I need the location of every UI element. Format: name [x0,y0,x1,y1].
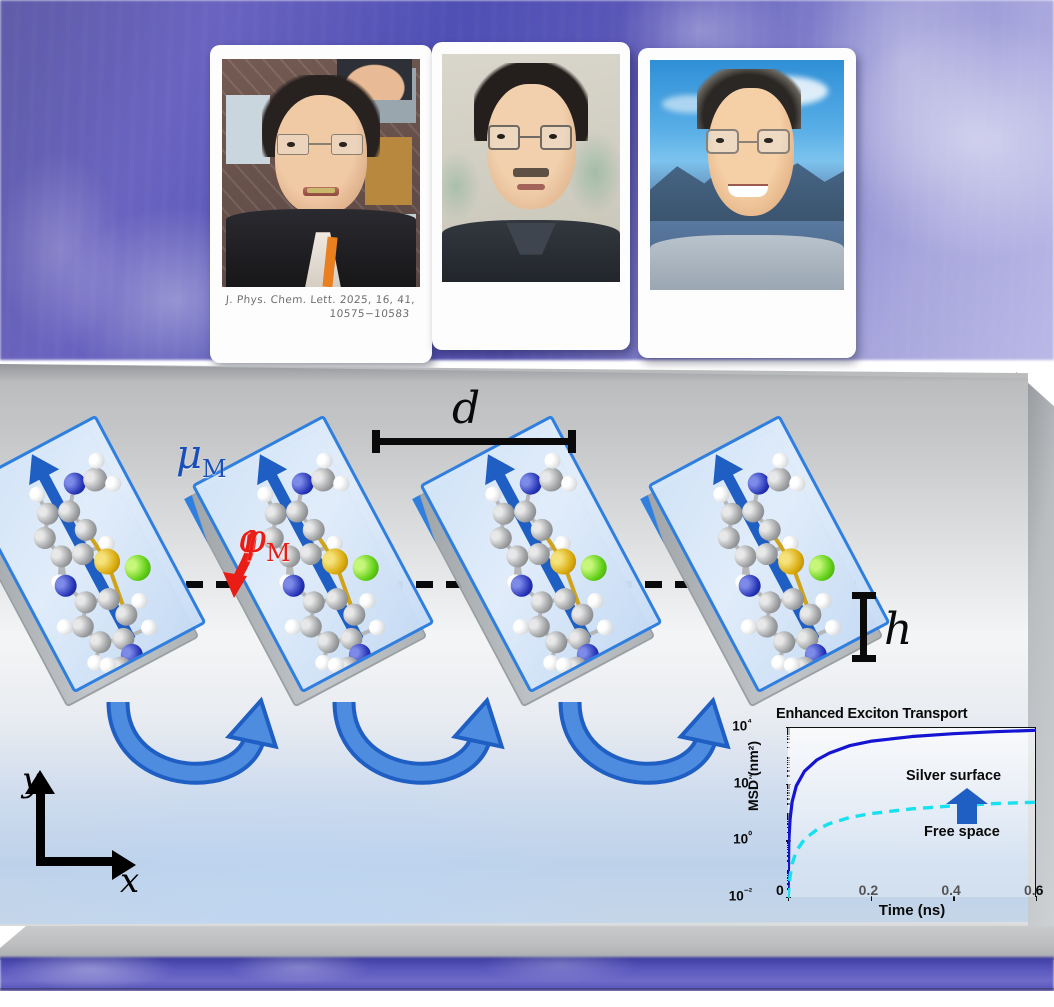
axis-y-label: y [22,760,41,800]
chart-y-tick-label-0: 10⁻² [708,887,752,904]
card-author-2-photo [442,54,620,282]
card-author-3[interactable] [638,48,856,358]
angle-label-symbol: φ [238,516,266,562]
chart-annotation-free-space: Free space [924,824,1000,840]
exciton-hop-arrow-1 [104,694,294,804]
chart-plot-area [788,727,1036,897]
card-author-2[interactable] [432,42,630,350]
chart-y-tick-label-1: 10⁰ [708,830,752,847]
axis-y-line [36,792,45,866]
height-label-h: h [884,604,912,655]
enhancement-up-arrow-icon [946,788,988,824]
card-author-1[interactable]: J. Phys. Chem. Lett. 2025, 16, 41, 10575… [210,45,432,363]
chart-annotation-silver-surface: Silver surface [906,768,1001,784]
chart-series-svg [788,728,1036,898]
dipole-label-mu-m: μM [176,432,227,483]
chart-x-tick-label-0: 0 [776,882,784,898]
exciton-hop-arrow-2 [330,694,520,804]
angle-label-subscript: M [266,539,291,567]
caption-line-1: J. Phys. Chem. Lett. 2025, 16, 41, [225,294,415,306]
author-photo-card-group: J. Phys. Chem. Lett. 2025, 16, 41, 10575… [210,42,855,362]
axis-x-label: x [120,861,139,901]
card-author-1-caption: J. Phys. Chem. Lett. 2025, 16, 41, 10575… [215,293,425,321]
chart-y-tick-label-3: 10⁴ [708,717,752,734]
chart-title: Enhanced Exciton Transport [776,706,1054,722]
card-author-3-photo [650,60,844,290]
inset-chart-msd: Enhanced Exciton Transport MSD (nm²) Tim… [738,706,1054,934]
background-bottom-white-strip [0,991,1054,1007]
dipole-label-subscript: M [202,455,227,483]
spacing-label-d: d [452,383,480,434]
card-author-1-photo [222,59,420,287]
chart-x-tick-3 [1036,896,1037,901]
graphical-abstract-root: J. Phys. Chem. Lett. 2025, 16, 41, 10575… [0,0,1054,1007]
chart-x-axis-label: Time (ns) [788,902,1036,919]
panel-bottom-band [0,926,1054,960]
chart-series-free-space [788,802,1036,898]
dipole-label-symbol: μ [176,432,202,478]
height-dimension-bar [852,592,876,662]
chart-series-silver-surface [788,730,1036,898]
chart-y-tick-label-2: 10² [708,774,752,791]
axis-x-line [36,857,118,866]
background-bottom-purple-band [0,957,1054,991]
caption-line-2: 10575−10583 [215,307,424,321]
angle-label-phi-m: φM [238,516,291,567]
